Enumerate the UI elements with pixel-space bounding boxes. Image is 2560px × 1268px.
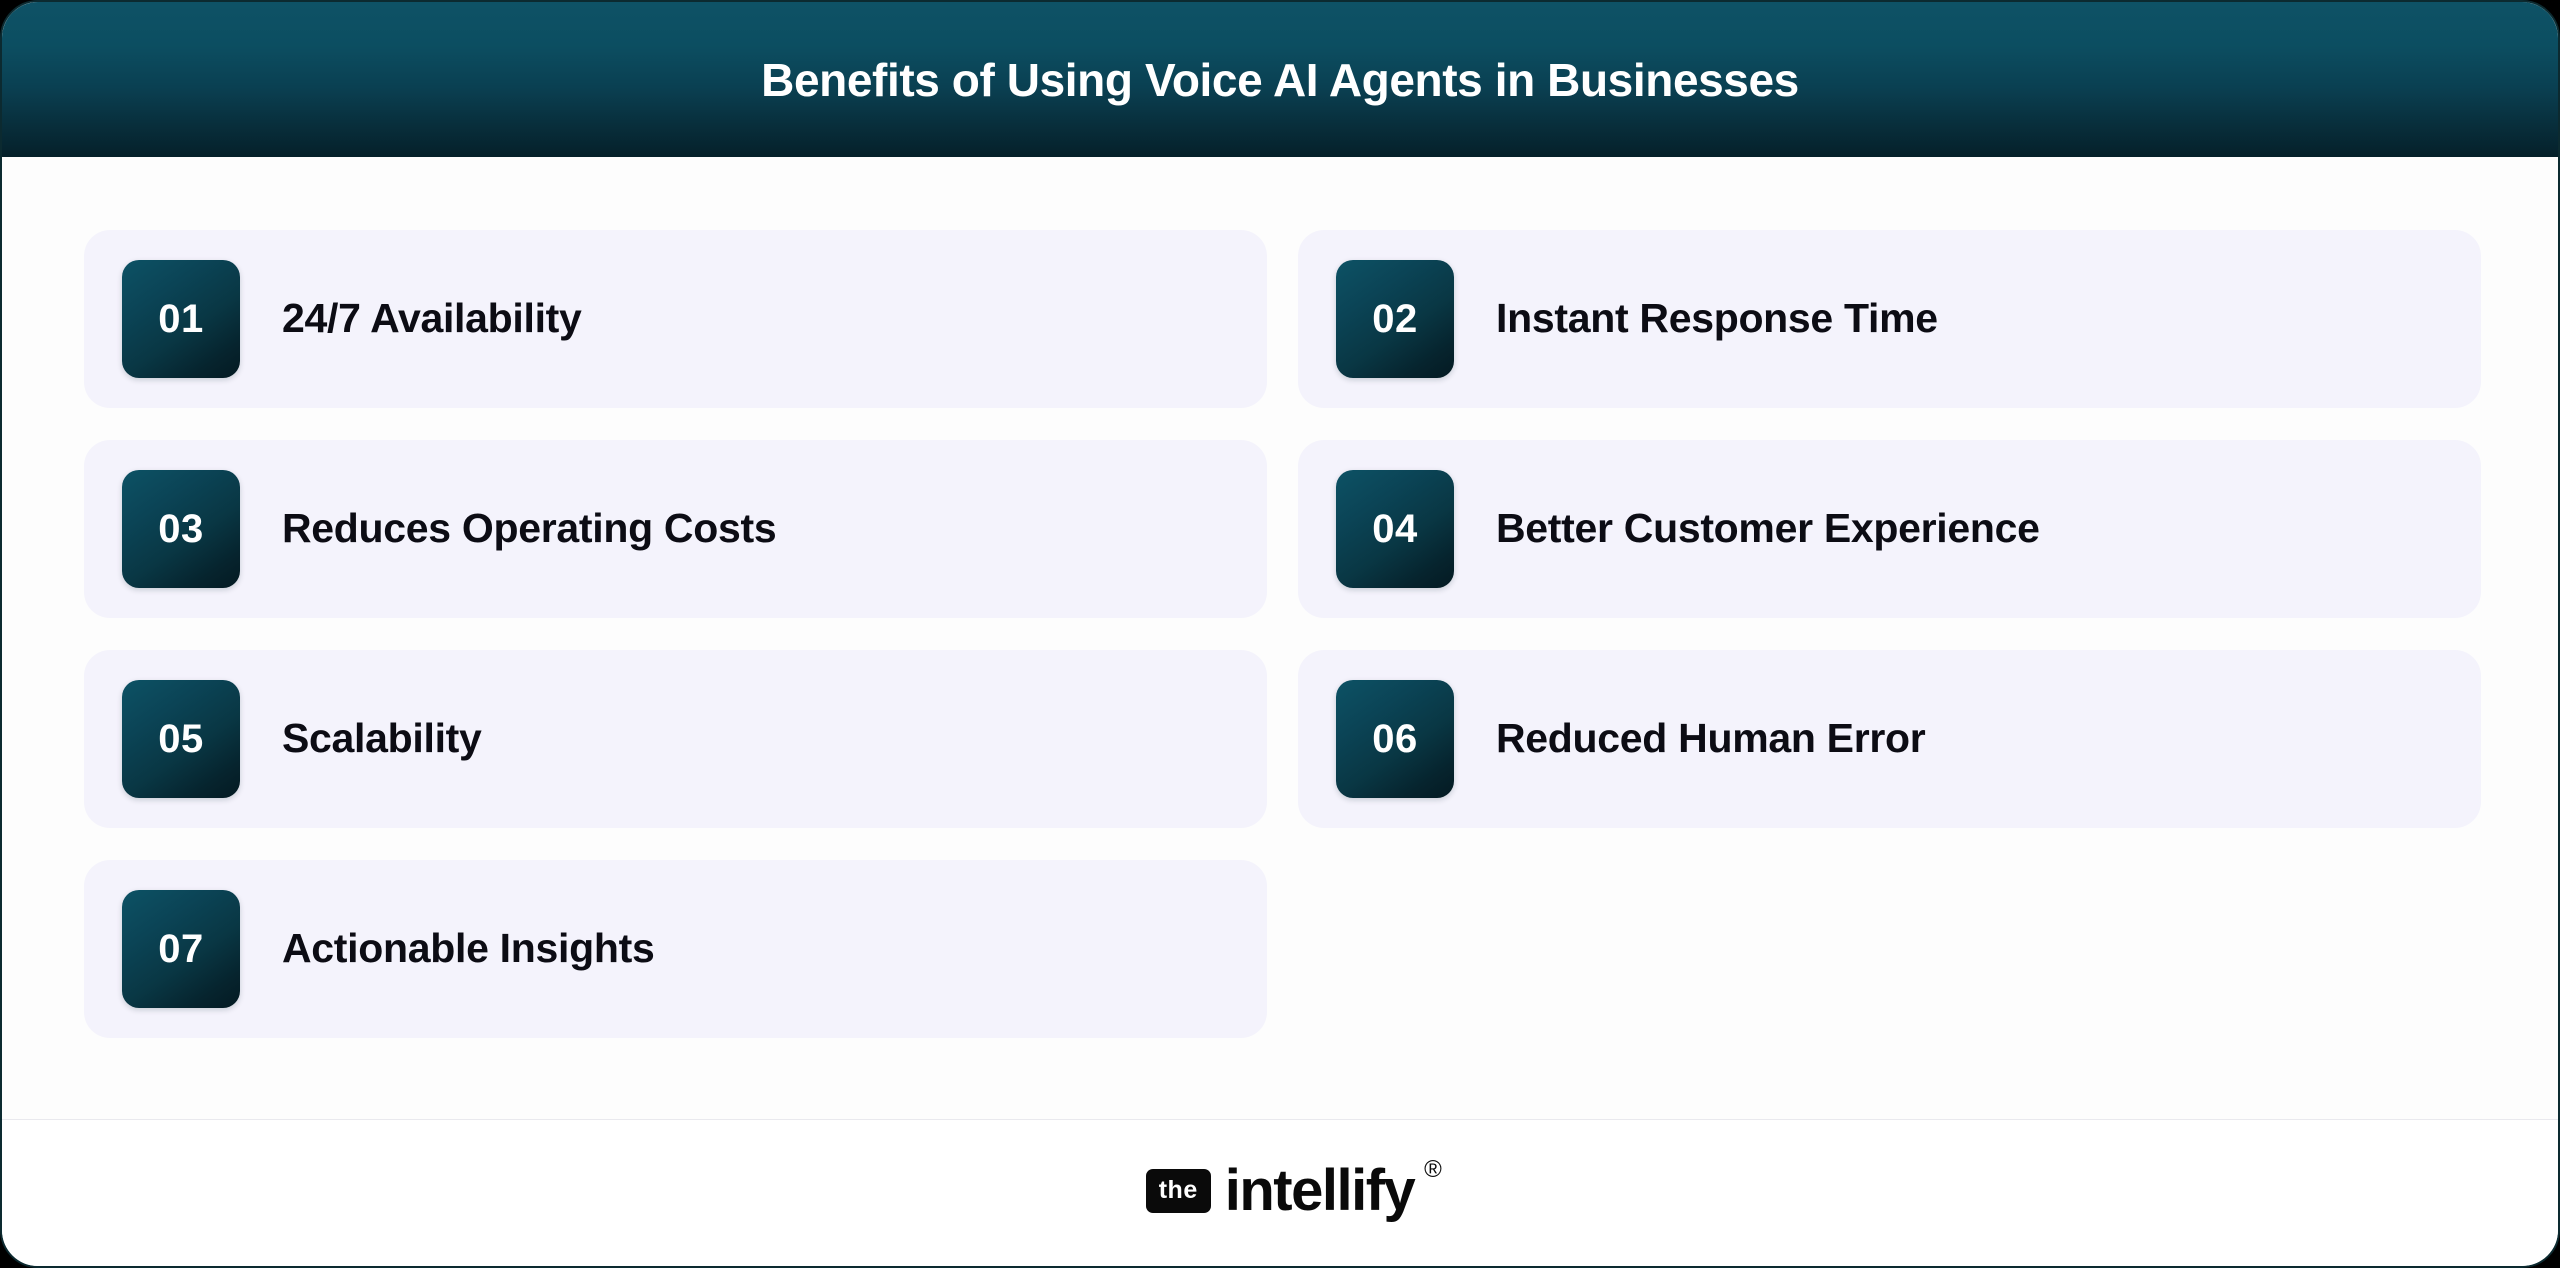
infographic-page: Benefits of Using Voice AI Agents in Bus… <box>0 0 2560 1268</box>
benefit-number-badge: 05 <box>122 680 240 798</box>
benefit-label: Actionable Insights <box>282 926 654 971</box>
benefit-number-badge: 01 <box>122 260 240 378</box>
logo-wordmark-text: intellify <box>1225 1158 1415 1223</box>
logo-the-badge: the <box>1146 1169 1211 1213</box>
benefit-label: Instant Response Time <box>1496 296 1938 341</box>
benefit-number: 06 <box>1372 719 1418 759</box>
benefit-label: Scalability <box>282 716 482 761</box>
benefit-card[interactable]: 02 Instant Response Time <box>1298 230 2481 408</box>
benefit-card[interactable]: 04 Better Customer Experience <box>1298 440 2481 618</box>
benefit-label: Better Customer Experience <box>1496 506 2040 551</box>
benefit-number: 01 <box>158 299 204 339</box>
benefit-number-badge: 06 <box>1336 680 1454 798</box>
registered-trademark-icon: ® <box>1424 1158 1440 1182</box>
benefit-number-badge: 07 <box>122 890 240 1008</box>
benefit-number-badge: 02 <box>1336 260 1454 378</box>
page-title: Benefits of Using Voice AI Agents in Bus… <box>761 57 1799 103</box>
logo-wordmark: intellify® <box>1225 1162 1415 1220</box>
benefit-number: 04 <box>1372 509 1418 549</box>
benefit-card[interactable]: 05 Scalability <box>84 650 1267 828</box>
benefit-label: 24/7 Availability <box>282 296 582 341</box>
benefits-grid: 01 24/7 Availability 02 Instant Response… <box>84 230 2476 1038</box>
benefit-number: 03 <box>158 509 204 549</box>
benefit-label: Reduced Human Error <box>1496 716 1925 761</box>
page-header: Benefits of Using Voice AI Agents in Bus… <box>2 2 2558 157</box>
benefit-number: 02 <box>1372 299 1418 339</box>
benefit-number: 05 <box>158 719 204 759</box>
benefit-label: Reduces Operating Costs <box>282 506 776 551</box>
benefit-card[interactable]: 01 24/7 Availability <box>84 230 1267 408</box>
benefit-card-placeholder <box>1298 860 2481 1038</box>
benefit-number-badge: 04 <box>1336 470 1454 588</box>
brand-logo: the intellify® <box>1146 1162 1415 1220</box>
benefit-number: 07 <box>158 929 204 969</box>
benefit-number-badge: 03 <box>122 470 240 588</box>
benefits-section: 01 24/7 Availability 02 Instant Response… <box>2 157 2558 1119</box>
benefit-card[interactable]: 03 Reduces Operating Costs <box>84 440 1267 618</box>
page-footer: the intellify® <box>2 1119 2558 1266</box>
benefit-card[interactable]: 06 Reduced Human Error <box>1298 650 2481 828</box>
benefit-card[interactable]: 07 Actionable Insights <box>84 860 1267 1038</box>
